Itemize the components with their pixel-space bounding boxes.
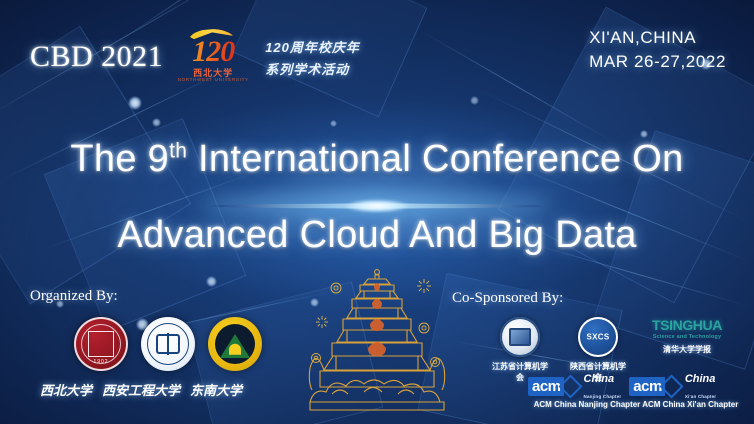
organizer-logos: 1902 xyxy=(74,317,262,371)
pagoda-icon xyxy=(302,266,452,416)
title-line-2: Advanced Cloud And Big Data xyxy=(0,216,754,254)
title-line-1-pre: The 9 xyxy=(70,138,169,180)
organizer-name-2: 西安工程大学 xyxy=(102,380,180,399)
header-right: XI'AN,CHINA MAR 26-27,2022 xyxy=(589,28,726,72)
computer-badge-icon xyxy=(500,317,540,357)
organizer-logo-xian-polytechnic-university xyxy=(141,317,195,371)
acm-chapter-logos: acm China Nanjing Chapter acm China Xi'a… xyxy=(528,370,716,402)
conference-location: XI'AN,CHINA xyxy=(589,28,726,48)
sxcs-abbr: SXCS xyxy=(578,333,618,342)
organizer-name-3: 东南大学 xyxy=(190,380,242,399)
organizer-logo-southeast-university xyxy=(208,317,262,371)
anniversary-slogan-line1: 120周年校庆年 xyxy=(265,37,360,56)
seal-glyph xyxy=(88,331,114,357)
conference-dates: MAR 26-27,2022 xyxy=(589,52,726,72)
anniversary-number: 120 xyxy=(177,36,249,68)
page-title: The 9th International Conference On Adva… xyxy=(0,140,754,254)
anniversary-slogan-line2: 系列学术活动 xyxy=(265,59,360,78)
acm-china-xian-chapter-logo: acm China Xi'an Chapter xyxy=(629,370,716,402)
conference-code: CBD 2021 xyxy=(30,40,163,74)
sponsor-tsinghua-science-and-technology: TSINGHUA Science and Technology 清华大学学报 xyxy=(648,317,726,355)
acm-region: China xyxy=(685,373,716,385)
acm-chapter: Nanjing Chapter xyxy=(584,394,622,399)
sxcs-badge-icon: SXCS xyxy=(578,317,618,357)
acm-label-group: China Nanjing Chapter xyxy=(584,370,622,402)
organized-by-label: Organized By: xyxy=(30,288,262,305)
tsinghua-brand-main: TSINGHUA xyxy=(648,317,726,333)
organizer-names: 西北大学 西安工程大学 东南大学 xyxy=(40,380,262,399)
anniversary-logo: 120 西北大学 NORTHWEST UNIVERSITY xyxy=(175,26,251,88)
title-line-1: The 9th International Conference On xyxy=(0,140,754,178)
organizer-name-1: 西北大学 xyxy=(40,380,92,399)
acm-label-group: China Xi'an Chapter xyxy=(685,370,716,402)
seal-dome xyxy=(229,344,241,355)
organizer-logo-northwest-university: 1902 xyxy=(74,317,128,371)
anniversary-slogan: 120周年校庆年 系列学术活动 xyxy=(265,37,360,78)
header-left: CBD 2021 120 西北大学 NORTHWEST UNIVERSITY 1… xyxy=(30,26,360,88)
conference-poster: CBD 2021 120 西北大学 NORTHWEST UNIVERSITY 1… xyxy=(0,0,754,424)
seal-year: 1902 xyxy=(74,359,128,365)
anniversary-university-en: NORTHWEST UNIVERSITY xyxy=(175,77,251,82)
co-sponsored-by-label: Co-Sponsored By: xyxy=(452,290,726,307)
acm-region: China xyxy=(584,373,615,385)
acm-caption: ACM China Nanjing Chapter ACM China Xi'a… xyxy=(518,400,754,409)
sponsor-name-3: 清华大学学报 xyxy=(648,344,726,355)
organized-by-section: Organized By: 1902 西北大学 西安工程大学 东南大学 xyxy=(30,288,262,399)
seal-glyph xyxy=(156,334,180,354)
acm-chapter: Xi'an Chapter xyxy=(685,394,716,399)
title-line-1-post: International Conference On xyxy=(187,138,683,180)
tsinghua-brand-sub: Science and Technology xyxy=(648,334,726,340)
title-ordinal-suffix: th xyxy=(169,139,187,162)
acm-china-nanjing-chapter-logo: acm China Nanjing Chapter xyxy=(528,370,621,402)
